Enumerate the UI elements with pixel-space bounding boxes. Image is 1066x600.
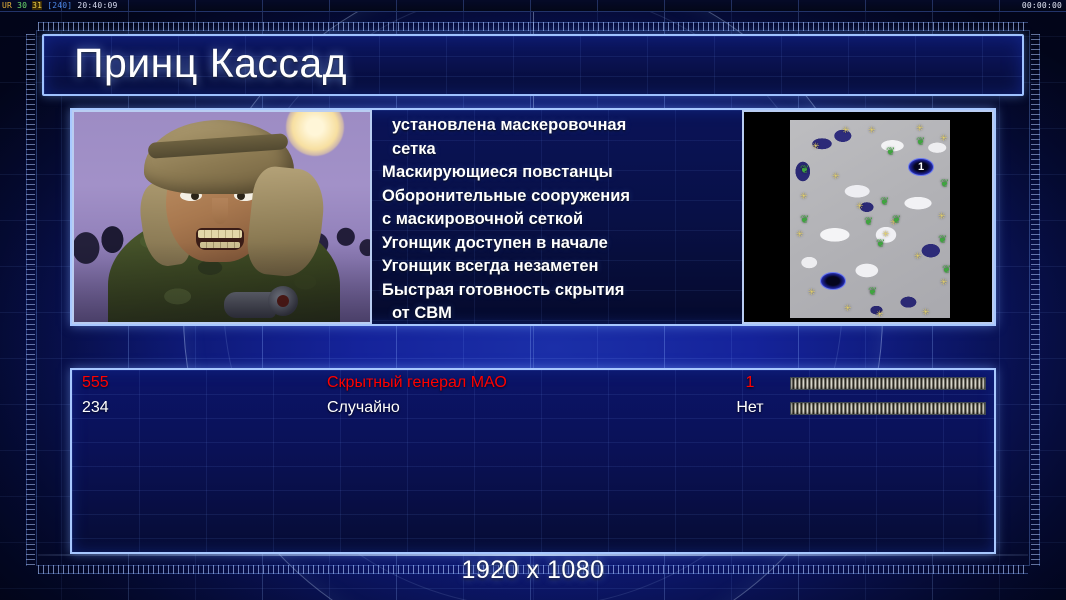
map-star-marker: ✳	[916, 124, 924, 133]
map-tree-marker: ❦	[880, 198, 889, 207]
map-tree-marker: ❦	[800, 216, 809, 225]
table-row[interactable]: 555Скрытный генерал МАО1	[72, 374, 996, 396]
map-tree-marker: ❦	[938, 236, 947, 245]
map-preview: ✳✳✳✳✳✳✳✳✳✳✳✳✳✳✳✳✳✳❦❦❦❦❦❦❦❦❦❦❦❦1	[742, 110, 994, 324]
map-star-marker: ✳	[940, 278, 948, 287]
map-spawn-point[interactable]	[820, 272, 846, 290]
map-terrain-image: ✳✳✳✳✳✳✳✳✳✳✳✳✳✳✳✳✳✳❦❦❦❦❦❦❦❦❦❦❦❦1	[790, 120, 950, 318]
description-line: Угонщик доступен в начале	[382, 232, 734, 256]
map-tree-marker: ❦	[868, 288, 877, 297]
map-tree-marker: ❦	[886, 148, 895, 157]
progress-bar	[790, 377, 986, 390]
team-cell[interactable]: Нет	[720, 399, 780, 417]
map-spawn-point[interactable]: 1	[908, 158, 934, 176]
map-star-marker: ✳	[844, 304, 852, 313]
description-line: Оборонительные сооружения	[382, 185, 734, 209]
map-tree-marker: ❦	[892, 216, 901, 225]
fps-bracket-value: [240]	[47, 1, 72, 10]
map-star-marker: ✳	[940, 134, 948, 143]
fps-alt-value: 31	[32, 1, 42, 10]
map-star-marker: ✳	[868, 126, 876, 135]
army-cell[interactable]: Случайно	[327, 399, 400, 417]
description-line: сетка	[382, 138, 734, 162]
description-line: от СВМ	[382, 302, 734, 324]
description-line: Угонщик всегда незаметен	[382, 255, 734, 279]
player-list-panel: Имя игрока Армия Команд Прогресс 555Скры…	[70, 368, 996, 554]
status-bar-grid	[0, 0, 1066, 11]
description-line: установлена маскеровочная	[382, 114, 734, 138]
resolution-label: 1920 x 1080	[461, 556, 604, 585]
map-star-marker: ✳	[796, 230, 804, 239]
map-star-marker: ✳	[800, 192, 808, 201]
window-title-bar: Принц Кассад	[42, 34, 1024, 96]
player-name-cell: 555	[82, 374, 109, 392]
fps-label: UR	[2, 1, 12, 10]
table-row[interactable]: 234СлучайноНет	[72, 399, 996, 421]
fps-value: 30	[17, 1, 27, 10]
map-tree-marker: ❦	[800, 166, 809, 175]
description-line: с маскировочной сеткой	[382, 208, 734, 232]
team-cell[interactable]: 1	[720, 374, 780, 392]
general-description: установлена маскеровочнаясеткаМаскирующи…	[372, 110, 742, 324]
map-star-marker: ✳	[832, 172, 840, 181]
map-tree-marker: ❦	[864, 218, 873, 227]
map-star-marker: ✳	[842, 126, 850, 135]
player-name-cell: 234	[82, 399, 109, 417]
map-star-marker: ✳	[938, 212, 946, 221]
description-line: Маскирующиеся повстанцы	[382, 161, 734, 185]
map-tree-marker: ❦	[942, 266, 951, 275]
player-list-grid	[72, 370, 994, 552]
debug-status-bar: UR 30 31 [240] 20:40:09 00:00:00	[0, 0, 1066, 12]
page-title: Принц Кассад	[74, 40, 347, 87]
map-star-marker: ✳	[856, 202, 864, 211]
map-star-marker: ✳	[914, 252, 922, 261]
fps-counter: UR 30 31 [240] 20:40:09	[2, 0, 118, 12]
map-tree-marker: ❦	[916, 138, 925, 147]
map-star-marker: ✳	[812, 142, 820, 151]
map-star-marker: ✳	[808, 288, 816, 297]
footer-divider	[38, 554, 1028, 556]
map-star-marker: ✳	[876, 310, 884, 319]
map-star-marker: ✳	[922, 308, 930, 317]
portrait-shading	[74, 112, 370, 322]
game-clock: 20:40:09	[77, 1, 117, 10]
description-line: Быстрая готовность скрытия	[382, 279, 734, 303]
general-portrait	[72, 110, 372, 324]
map-tree-marker: ❦	[876, 240, 885, 249]
game-setup-screen: UR 30 31 [240] 20:40:09 00:00:00 Принц К…	[0, 0, 1066, 600]
general-select-window: Принц Кассад	[42, 34, 1024, 554]
army-cell[interactable]: Скрытный генерал МАО	[327, 374, 507, 392]
resolution-footer: 1920 x 1080	[0, 554, 1066, 592]
progress-bar	[790, 402, 986, 415]
general-info-panel: установлена маскеровочнаясеткаМаскирующи…	[70, 108, 996, 326]
map-tree-marker: ❦	[940, 180, 949, 189]
match-timer: 00:00:00	[1022, 0, 1062, 12]
